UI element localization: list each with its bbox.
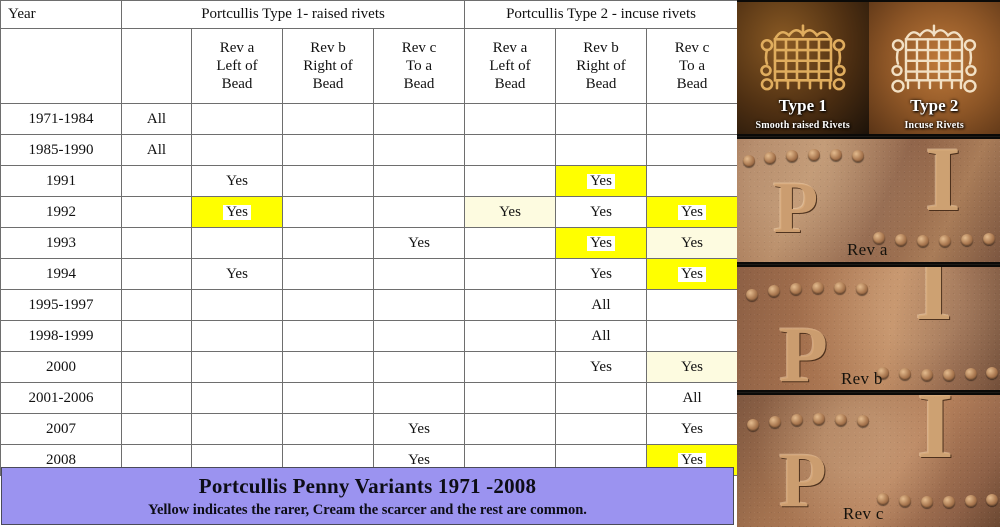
coin-letter-i: I bbox=[915, 265, 952, 335]
cell-t1-rev-b bbox=[283, 383, 374, 414]
cell-t1-rev-c bbox=[374, 104, 465, 135]
photo-portcullis-type2: Type 2 Incuse Rivets bbox=[869, 2, 1000, 134]
cell-value: Yes bbox=[678, 205, 706, 221]
cell-value: Yes bbox=[587, 267, 615, 283]
table-row: 2001-2006All bbox=[1, 383, 738, 414]
header-t1-rev-c-line1: Rev c bbox=[402, 40, 437, 56]
cell-value: Yes bbox=[678, 453, 706, 469]
bead-dot bbox=[743, 155, 755, 167]
cell-t2-rev-b: Yes bbox=[556, 352, 647, 383]
cell-t1-rev-b bbox=[283, 259, 374, 290]
cell-t2-rev-c bbox=[647, 290, 738, 321]
photo-type2-title: Type 2 bbox=[869, 96, 1000, 116]
cell-year: 1985-1990 bbox=[1, 135, 122, 166]
cell-t2-rev-c bbox=[647, 135, 738, 166]
bead-dot bbox=[813, 413, 825, 425]
header-t1-rev-c: Rev c To a Bead bbox=[374, 29, 465, 104]
header-t1-rev-b: Rev b Right of Bead bbox=[283, 29, 374, 104]
variants-table-panel: Year Portcullis Type 1- raised rivets Po… bbox=[0, 0, 737, 527]
cell-t2-rev-c: Yes bbox=[647, 228, 738, 259]
bead-dot bbox=[943, 369, 955, 381]
table-body: 1971-1984All1985-1990All1991YesYes1992Ye… bbox=[1, 104, 738, 476]
cell-t1-rev-b bbox=[283, 414, 374, 445]
cell-value: Yes bbox=[223, 205, 251, 221]
cell-value: Yes bbox=[678, 360, 706, 376]
cell-all bbox=[122, 414, 192, 445]
coin-letter-i: I bbox=[917, 393, 954, 473]
cell-value: Yes bbox=[678, 267, 706, 283]
bead-dot bbox=[921, 369, 933, 381]
cell-t2-rev-b bbox=[556, 104, 647, 135]
cell-t1-rev-a bbox=[192, 135, 283, 166]
bead-dot bbox=[791, 414, 803, 426]
bead-dot bbox=[899, 368, 911, 380]
cell-t2-rev-b: All bbox=[556, 290, 647, 321]
cell-all bbox=[122, 352, 192, 383]
header-t2-rev-b-line3: Bead bbox=[586, 76, 617, 92]
cell-value: All bbox=[588, 298, 613, 314]
bead-dot bbox=[746, 289, 758, 301]
bead-dot bbox=[834, 282, 846, 294]
cell-t1-rev-b bbox=[283, 321, 374, 352]
header-t1-rev-b-line2: Right of bbox=[303, 58, 353, 74]
bead-dot bbox=[965, 495, 977, 507]
cell-t1-rev-c bbox=[374, 321, 465, 352]
cell-t2-rev-a bbox=[465, 228, 556, 259]
cell-value: All bbox=[588, 329, 613, 345]
coin-letter-p: P bbox=[779, 315, 828, 392]
header-t2-rev-c-line1: Rev c bbox=[675, 40, 710, 56]
cell-t2-rev-a bbox=[465, 166, 556, 197]
bead-dot bbox=[899, 495, 911, 507]
cell-all bbox=[122, 197, 192, 228]
cell-value: Yes bbox=[405, 236, 433, 252]
cell-t2-rev-a bbox=[465, 104, 556, 135]
cell-year: 2001-2006 bbox=[1, 383, 122, 414]
header-t1-rev-c-line2: To a bbox=[406, 58, 432, 74]
bead-dot bbox=[768, 285, 780, 297]
cell-t2-rev-b: Yes bbox=[556, 166, 647, 197]
cell-all bbox=[122, 321, 192, 352]
cell-value: Yes bbox=[405, 453, 433, 469]
table-row: 1985-1990All bbox=[1, 135, 738, 166]
bead-dot bbox=[808, 149, 820, 161]
table-row: 1992YesYesYesYes bbox=[1, 197, 738, 228]
cell-t1-rev-a bbox=[192, 352, 283, 383]
cell-value: Yes bbox=[587, 236, 615, 252]
cell-t1-rev-c bbox=[374, 166, 465, 197]
cell-year: 1991 bbox=[1, 166, 122, 197]
bead-dot bbox=[965, 368, 977, 380]
header-t1-rev-a-line2: Left of bbox=[216, 58, 257, 74]
cell-t2-rev-b bbox=[556, 414, 647, 445]
cell-t1-rev-b bbox=[283, 197, 374, 228]
cell-t1-rev-c bbox=[374, 135, 465, 166]
header-t1-rev-a: Rev a Left of Bead bbox=[192, 29, 283, 104]
table-row: 2007YesYes bbox=[1, 414, 738, 445]
reference-photo-panel: Type 1 Smooth raised Rivets bbox=[737, 0, 1000, 527]
cell-value: Yes bbox=[223, 174, 251, 190]
bead-dot bbox=[895, 234, 907, 246]
cell-value: Yes bbox=[405, 422, 433, 438]
cell-year: 1971-1984 bbox=[1, 104, 122, 135]
cell-value: Yes bbox=[223, 267, 251, 283]
cell-t1-rev-a bbox=[192, 321, 283, 352]
table-row: 1994YesYesYes bbox=[1, 259, 738, 290]
photo-rev-a-label: Rev a bbox=[847, 240, 888, 260]
portcullis-type1-icon bbox=[753, 10, 853, 108]
bead-dot bbox=[747, 419, 759, 431]
cell-year: 1998-1999 bbox=[1, 321, 122, 352]
cell-value: Yes bbox=[678, 422, 706, 438]
photo-portcullis-type1: Type 1 Smooth raised Rivets bbox=[737, 2, 869, 134]
cell-t2-rev-c: Yes bbox=[647, 197, 738, 228]
cell-t1-rev-a bbox=[192, 383, 283, 414]
cell-t1-rev-c: Yes bbox=[374, 414, 465, 445]
header-row-groups: Year Portcullis Type 1- raised rivets Po… bbox=[1, 1, 738, 29]
photo-rev-b: P I Rev b bbox=[737, 265, 1000, 392]
bead-dot bbox=[764, 152, 776, 164]
header-t2-rev-b-line2: Right of bbox=[576, 58, 626, 74]
portcullis-penny-variants-chart: Year Portcullis Type 1- raised rivets Po… bbox=[0, 0, 1000, 527]
cell-year: 2007 bbox=[1, 414, 122, 445]
photo-rev-a: P I Rev a bbox=[737, 137, 1000, 264]
bead-dot bbox=[921, 496, 933, 508]
header-row-columns: Rev a Left of Bead Rev b Right of Bead R… bbox=[1, 29, 738, 104]
cell-value: Yes bbox=[496, 205, 524, 221]
caption-legend: Yellow indicates the rarer, Cream the sc… bbox=[148, 502, 587, 519]
cell-t1-rev-b bbox=[283, 228, 374, 259]
bead-dot bbox=[857, 415, 869, 427]
header-t1-rev-b-line1: Rev b bbox=[310, 40, 345, 56]
table-row: 1995-1997All bbox=[1, 290, 738, 321]
table-head: Year Portcullis Type 1- raised rivets Po… bbox=[1, 1, 738, 104]
header-t2-rev-b-line1: Rev b bbox=[583, 40, 618, 56]
photo-type2-subtitle: Incuse Rivets bbox=[869, 120, 1000, 131]
header-t2-rev-c-line2: To a bbox=[679, 58, 705, 74]
cell-t2-rev-c: Yes bbox=[647, 414, 738, 445]
cell-value: Yes bbox=[587, 360, 615, 376]
cell-t2-rev-a bbox=[465, 414, 556, 445]
cell-t1-rev-a bbox=[192, 104, 283, 135]
cell-t2-rev-a bbox=[465, 290, 556, 321]
cell-year: 2000 bbox=[1, 352, 122, 383]
cell-t1-rev-b bbox=[283, 104, 374, 135]
bead-dot bbox=[983, 233, 995, 245]
cell-all: All bbox=[122, 104, 192, 135]
bead-dot bbox=[986, 367, 998, 379]
cell-t2-rev-a: Yes bbox=[465, 197, 556, 228]
cell-all bbox=[122, 290, 192, 321]
coin-letter-p: P bbox=[779, 441, 827, 519]
cell-t2-rev-b: Yes bbox=[556, 259, 647, 290]
header-blank-year bbox=[1, 29, 122, 104]
cell-value: All bbox=[679, 391, 704, 407]
coin-letter-i: I bbox=[925, 137, 961, 225]
bead-dot bbox=[769, 416, 781, 428]
bead-dot bbox=[852, 150, 864, 162]
variants-table: Year Portcullis Type 1- raised rivets Po… bbox=[0, 0, 738, 476]
cell-all bbox=[122, 166, 192, 197]
cell-value: All bbox=[144, 112, 169, 128]
bead-dot bbox=[943, 496, 955, 508]
cell-all bbox=[122, 259, 192, 290]
cell-all: All bbox=[122, 135, 192, 166]
cell-value: Yes bbox=[587, 174, 615, 190]
bead-dot bbox=[812, 282, 824, 294]
bead-dot bbox=[786, 150, 798, 162]
header-blank-all bbox=[122, 29, 192, 104]
cell-t1-rev-c: Yes bbox=[374, 228, 465, 259]
bead-dot bbox=[961, 234, 973, 246]
header-t1-rev-a-line1: Rev a bbox=[220, 40, 255, 56]
cell-year: 1995-1997 bbox=[1, 290, 122, 321]
cell-t2-rev-c: All bbox=[647, 383, 738, 414]
table-row: 1971-1984All bbox=[1, 104, 738, 135]
photo-rev-c-label: Rev c bbox=[843, 504, 884, 524]
cell-t2-rev-a bbox=[465, 321, 556, 352]
cell-t2-rev-a bbox=[465, 352, 556, 383]
cell-t2-rev-a bbox=[465, 383, 556, 414]
header-t1-rev-b-line3: Bead bbox=[313, 76, 344, 92]
bead-dot bbox=[856, 283, 868, 295]
cell-year: 1994 bbox=[1, 259, 122, 290]
header-group-type2: Portcullis Type 2 - incuse rivets bbox=[465, 1, 738, 29]
header-t2-rev-a-line1: Rev a bbox=[493, 40, 528, 56]
bead-dot bbox=[917, 235, 929, 247]
bead-dot bbox=[830, 149, 842, 161]
header-group-type1: Portcullis Type 1- raised rivets bbox=[122, 1, 465, 29]
cell-t2-rev-b: All bbox=[556, 321, 647, 352]
cell-year: 1993 bbox=[1, 228, 122, 259]
header-t2-rev-a-line2: Left of bbox=[489, 58, 530, 74]
cell-t1-rev-c bbox=[374, 383, 465, 414]
cell-t1-rev-c bbox=[374, 290, 465, 321]
cell-all bbox=[122, 383, 192, 414]
bead-dot bbox=[986, 494, 998, 506]
header-year: Year bbox=[1, 1, 122, 29]
cell-t1-rev-b bbox=[283, 290, 374, 321]
header-t2-rev-a-line3: Bead bbox=[495, 76, 526, 92]
cell-t1-rev-c bbox=[374, 352, 465, 383]
table-row: 1991YesYes bbox=[1, 166, 738, 197]
cell-t2-rev-b: Yes bbox=[556, 197, 647, 228]
cell-t1-rev-a: Yes bbox=[192, 197, 283, 228]
cell-t2-rev-a bbox=[465, 135, 556, 166]
header-t1-rev-c-line3: Bead bbox=[404, 76, 435, 92]
cell-t1-rev-b bbox=[283, 352, 374, 383]
table-row: 1993YesYesYes bbox=[1, 228, 738, 259]
cell-t1-rev-b bbox=[283, 166, 374, 197]
cell-value: All bbox=[144, 143, 169, 159]
cell-t2-rev-c bbox=[647, 104, 738, 135]
cell-t1-rev-a bbox=[192, 414, 283, 445]
bead-dot bbox=[939, 235, 951, 247]
header-t2-rev-a: Rev a Left of Bead bbox=[465, 29, 556, 104]
photo-portcullis-types: Type 1 Smooth raised Rivets bbox=[737, 0, 1000, 136]
cell-value: Yes bbox=[587, 205, 615, 221]
cell-t1-rev-c bbox=[374, 259, 465, 290]
cell-t2-rev-c: Yes bbox=[647, 259, 738, 290]
cell-t1-rev-a bbox=[192, 290, 283, 321]
header-t2-rev-c-line3: Bead bbox=[677, 76, 708, 92]
cell-year: 1992 bbox=[1, 197, 122, 228]
bead-dot bbox=[790, 283, 802, 295]
cell-t1-rev-a bbox=[192, 228, 283, 259]
photo-rev-b-label: Rev b bbox=[841, 369, 883, 389]
cell-t1-rev-a: Yes bbox=[192, 259, 283, 290]
cell-t2-rev-b: Yes bbox=[556, 228, 647, 259]
header-t2-rev-c: Rev c To a Bead bbox=[647, 29, 738, 104]
photo-rev-c: P I Rev c bbox=[737, 393, 1000, 527]
cell-t2-rev-a bbox=[465, 259, 556, 290]
table-row: 2000YesYes bbox=[1, 352, 738, 383]
cell-t2-rev-b bbox=[556, 135, 647, 166]
bead-dot bbox=[835, 414, 847, 426]
header-t1-rev-a-line3: Bead bbox=[222, 76, 253, 92]
cell-t2-rev-c: Yes bbox=[647, 352, 738, 383]
cell-t1-rev-c bbox=[374, 197, 465, 228]
caption-title: Portcullis Penny Variants 1971 -2008 bbox=[199, 474, 536, 499]
coin-letter-p: P bbox=[773, 171, 818, 245]
photo-type1-title: Type 1 bbox=[737, 96, 869, 116]
cell-t1-rev-a: Yes bbox=[192, 166, 283, 197]
chart-caption: Portcullis Penny Variants 1971 -2008 Yel… bbox=[1, 467, 734, 525]
cell-t2-rev-c bbox=[647, 321, 738, 352]
cell-all bbox=[122, 228, 192, 259]
cell-t1-rev-b bbox=[283, 135, 374, 166]
cell-value: Yes bbox=[678, 236, 706, 252]
cell-t2-rev-c bbox=[647, 166, 738, 197]
photo-type1-subtitle: Smooth raised Rivets bbox=[737, 120, 869, 131]
table-row: 1998-1999All bbox=[1, 321, 738, 352]
header-t2-rev-b: Rev b Right of Bead bbox=[556, 29, 647, 104]
cell-t2-rev-b bbox=[556, 383, 647, 414]
portcullis-type2-icon bbox=[884, 10, 984, 108]
